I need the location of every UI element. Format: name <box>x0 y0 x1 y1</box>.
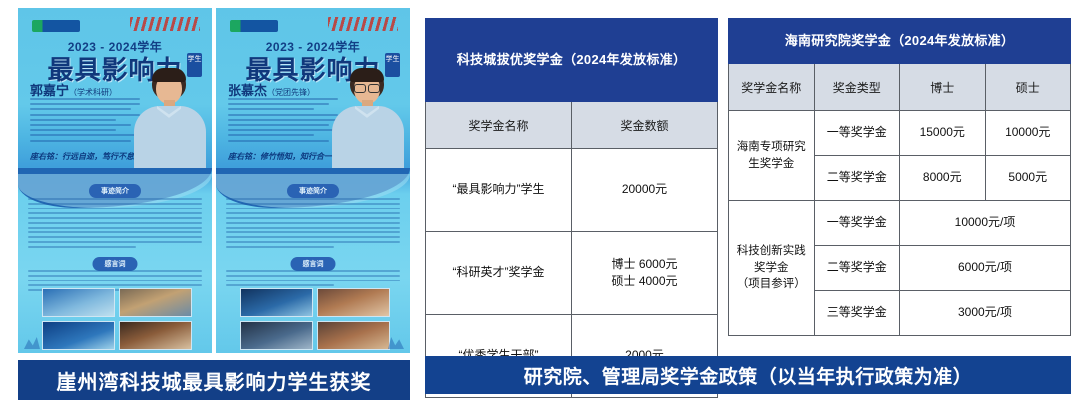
table-title: 海南研究院奖学金（2024年发放标准） <box>729 19 1071 64</box>
eyeglasses-icon <box>354 84 380 91</box>
section-label-remarks: 感言词 <box>291 257 336 271</box>
institute-logo-icon <box>32 20 80 32</box>
cell-master-amount: 10000元 <box>985 111 1071 156</box>
table-row: “最具影响力”学生 20000元 <box>426 149 718 232</box>
deeds-body-text <box>28 198 202 251</box>
section-label-remarks: 感言词 <box>93 257 138 271</box>
poster-photo-3 <box>240 321 313 350</box>
col-header-amount: 奖金数额 <box>572 102 718 149</box>
leaf-ornament-icon <box>388 337 404 349</box>
student-portrait-photo <box>324 64 408 168</box>
table-row: 海南专项研究生奖学金 一等奖学金 15000元 10000元 <box>729 111 1071 156</box>
tables-caption-banner: 研究院、管理局奖学金政策（以当年执行政策为准） <box>425 356 1071 394</box>
col-header-name: 奖学金名称 <box>426 102 572 149</box>
poster-photo-grid <box>240 288 390 350</box>
poster-gallery: 2023 - 2024学年 最具影响力 学生 郭嘉宁（学术科研） 座右铭：行远自… <box>18 8 412 394</box>
col-header-type: 奖金类型 <box>814 64 900 111</box>
cell-phd-amount: 15000元 <box>900 111 986 156</box>
poster-photo-grid <box>42 288 192 350</box>
cell-phd-amount: 8000元 <box>900 156 986 201</box>
table-keji-city-scholarship: 科技城拔优奖学金（2024年发放标准） 奖学金名称 奖金数额 “最具影响力”学生… <box>425 18 718 398</box>
cell-award-type: 二等奖学金 <box>814 156 900 201</box>
section-label-deeds: 事迹简介 <box>287 184 339 198</box>
table-title-row: 海南研究院奖学金（2024年发放标准） <box>729 19 1071 64</box>
col-header-master: 硕士 <box>985 64 1071 111</box>
poster-photo-3 <box>42 321 115 350</box>
col-header-phd: 博士 <box>900 64 986 111</box>
cell-award-type: 一等奖学金 <box>814 201 900 246</box>
poster-student-name: 张慕杰（党团先锋） <box>228 80 315 99</box>
student-portrait-photo <box>126 64 210 168</box>
table-title: 科技城拔优奖学金（2024年发放标准） <box>426 19 718 102</box>
poster-student-name: 郭嘉宁（学术科研） <box>30 80 117 99</box>
poster-photo-4 <box>317 321 390 350</box>
section-label-deeds: 事迹简介 <box>89 184 141 198</box>
cell-group-name: 科技创新实践奖学金 （项目参评） <box>729 201 815 336</box>
table-row: 科技创新实践奖学金 （项目参评） 一等奖学金 10000元/项 <box>729 201 1071 246</box>
poster-card-2[interactable]: 2023 - 2024学年 最具影响力 学生 张慕杰（党团先锋） 座右铭：修竹悟… <box>216 8 410 353</box>
institute-logo-icon <box>230 20 278 32</box>
student-category-text: （学术科研） <box>69 88 117 97</box>
poster-photo-2 <box>317 288 390 317</box>
poster-card-1[interactable]: 2023 - 2024学年 最具影响力 学生 郭嘉宁（学术科研） 座右铭：行远自… <box>18 8 212 353</box>
poster-photo-2 <box>119 288 192 317</box>
cell-scholarship-amount: 20000元 <box>572 149 718 232</box>
student-name-text: 张慕杰 <box>228 83 267 98</box>
calligraphy-banner-icon <box>328 17 398 31</box>
student-name-text: 郭嘉宁 <box>30 83 69 98</box>
poster-photo-4 <box>119 321 192 350</box>
table-title-row: 科技城拔优奖学金（2024年发放标准） <box>426 19 718 102</box>
cell-award-type: 二等奖学金 <box>814 246 900 291</box>
table-header-row: 奖学金名称 奖金类型 博士 硕士 <box>729 64 1071 111</box>
poster-photo-1 <box>240 288 313 317</box>
calligraphy-banner-icon <box>130 17 200 31</box>
poster-caption-banner: 崖州湾科技城最具影响力学生获奖 <box>18 360 410 400</box>
table-hainan-institute-scholarship: 海南研究院奖学金（2024年发放标准） 奖学金名称 奖金类型 博士 硕士 海南专… <box>728 18 1071 336</box>
col-header-name: 奖学金名称 <box>729 64 815 111</box>
cell-group-name: 海南专项研究生奖学金 <box>729 111 815 201</box>
deeds-body-text <box>226 198 400 251</box>
cell-scholarship-amount: 博士 6000元 硕士 4000元 <box>572 232 718 315</box>
cell-merged-amount: 6000元/项 <box>900 246 1071 291</box>
leaf-ornament-icon <box>24 337 40 349</box>
achievement-list <box>228 98 338 145</box>
table-row: “科研英才”奖学金 博士 6000元 硕士 4000元 <box>426 232 718 315</box>
remarks-body-text <box>226 270 400 289</box>
cell-scholarship-name: “最具影响力”学生 <box>426 149 572 232</box>
student-category-text: （党团先锋） <box>267 88 315 97</box>
cell-award-type: 三等奖学金 <box>814 291 900 336</box>
achievement-list <box>30 98 140 145</box>
cell-award-type: 一等奖学金 <box>814 111 900 156</box>
cell-merged-amount: 3000元/项 <box>900 291 1071 336</box>
cell-master-amount: 5000元 <box>985 156 1071 201</box>
poster-photo-1 <box>42 288 115 317</box>
table-header-row: 奖学金名称 奖金数额 <box>426 102 718 149</box>
cell-scholarship-name: “科研英才”奖学金 <box>426 232 572 315</box>
cell-merged-amount: 10000元/项 <box>900 201 1071 246</box>
